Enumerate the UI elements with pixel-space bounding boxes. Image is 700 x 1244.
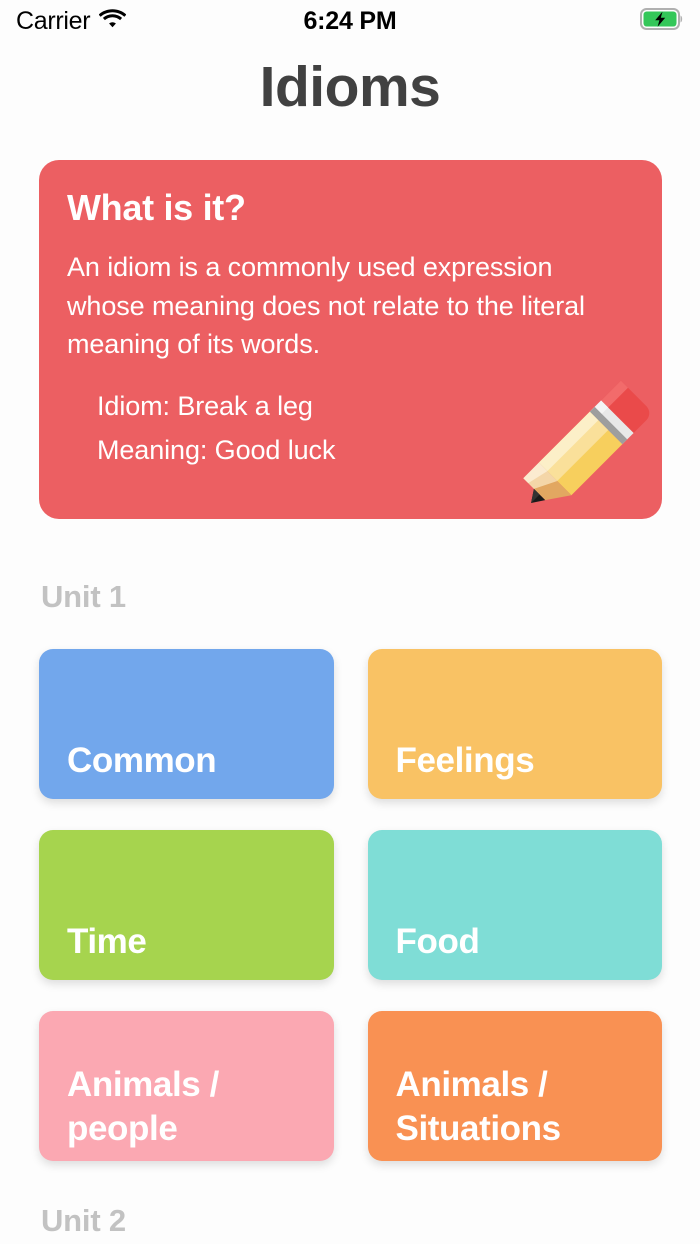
- info-card-example-meaning: Meaning: Good luck: [97, 429, 632, 473]
- tile-label: Animals / Situations: [396, 1063, 561, 1151]
- tile-feelings[interactable]: Feelings: [368, 649, 663, 799]
- info-card-body: An idiom is a commonly used expression w…: [67, 248, 597, 363]
- page-title: Idioms: [0, 58, 700, 118]
- unit-1-tile-grid: Common Feelings Time Food Animals / peop…: [0, 649, 700, 1161]
- info-card-examples: Idiom: Break a leg Meaning: Good luck: [67, 385, 632, 472]
- status-bar: Carrier 6:24 PM: [0, 0, 700, 42]
- info-card-title: What is it?: [67, 188, 632, 228]
- tile-label: Food: [396, 920, 480, 964]
- info-card-example-idiom: Idiom: Break a leg: [97, 385, 632, 429]
- tile-label: Common: [67, 739, 216, 783]
- tile-time[interactable]: Time: [39, 830, 334, 980]
- tile-label: Animals / people: [67, 1063, 219, 1151]
- status-bar-time: 6:24 PM: [0, 7, 700, 36]
- tile-animals-people[interactable]: Animals / people: [39, 1011, 334, 1161]
- tile-animals-situations[interactable]: Animals / Situations: [368, 1011, 663, 1161]
- tile-label: Feelings: [396, 739, 535, 783]
- tile-common[interactable]: Common: [39, 649, 334, 799]
- unit-1-heading: Unit 1: [0, 579, 700, 615]
- unit-2-heading: Unit 2: [0, 1203, 700, 1239]
- tile-food[interactable]: Food: [368, 830, 663, 980]
- tile-label: Time: [67, 920, 146, 964]
- info-card: What is it? An idiom is a commonly used …: [39, 160, 662, 519]
